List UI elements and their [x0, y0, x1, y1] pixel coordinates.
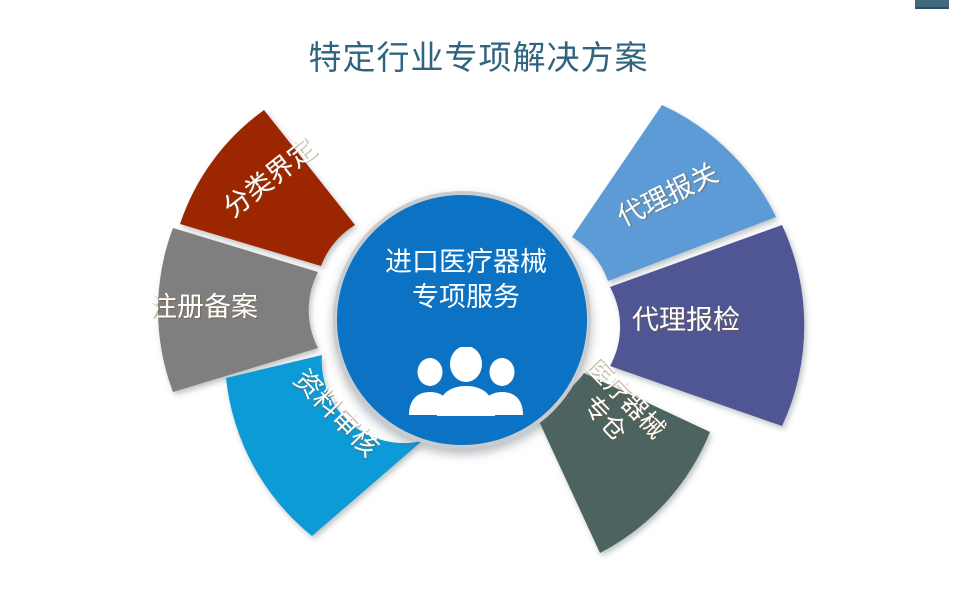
center-hub-label: 进口医疗器械 专项服务: [337, 245, 595, 315]
center-hub[interactable]: 进口医疗器械 专项服务: [333, 191, 591, 449]
slide-canvas: 特定行业专项解决方案 分类界定 注册备案 资料审核 代理报关 代理报检 医疗器械…: [0, 0, 957, 603]
three-people-icon: [406, 347, 526, 419]
